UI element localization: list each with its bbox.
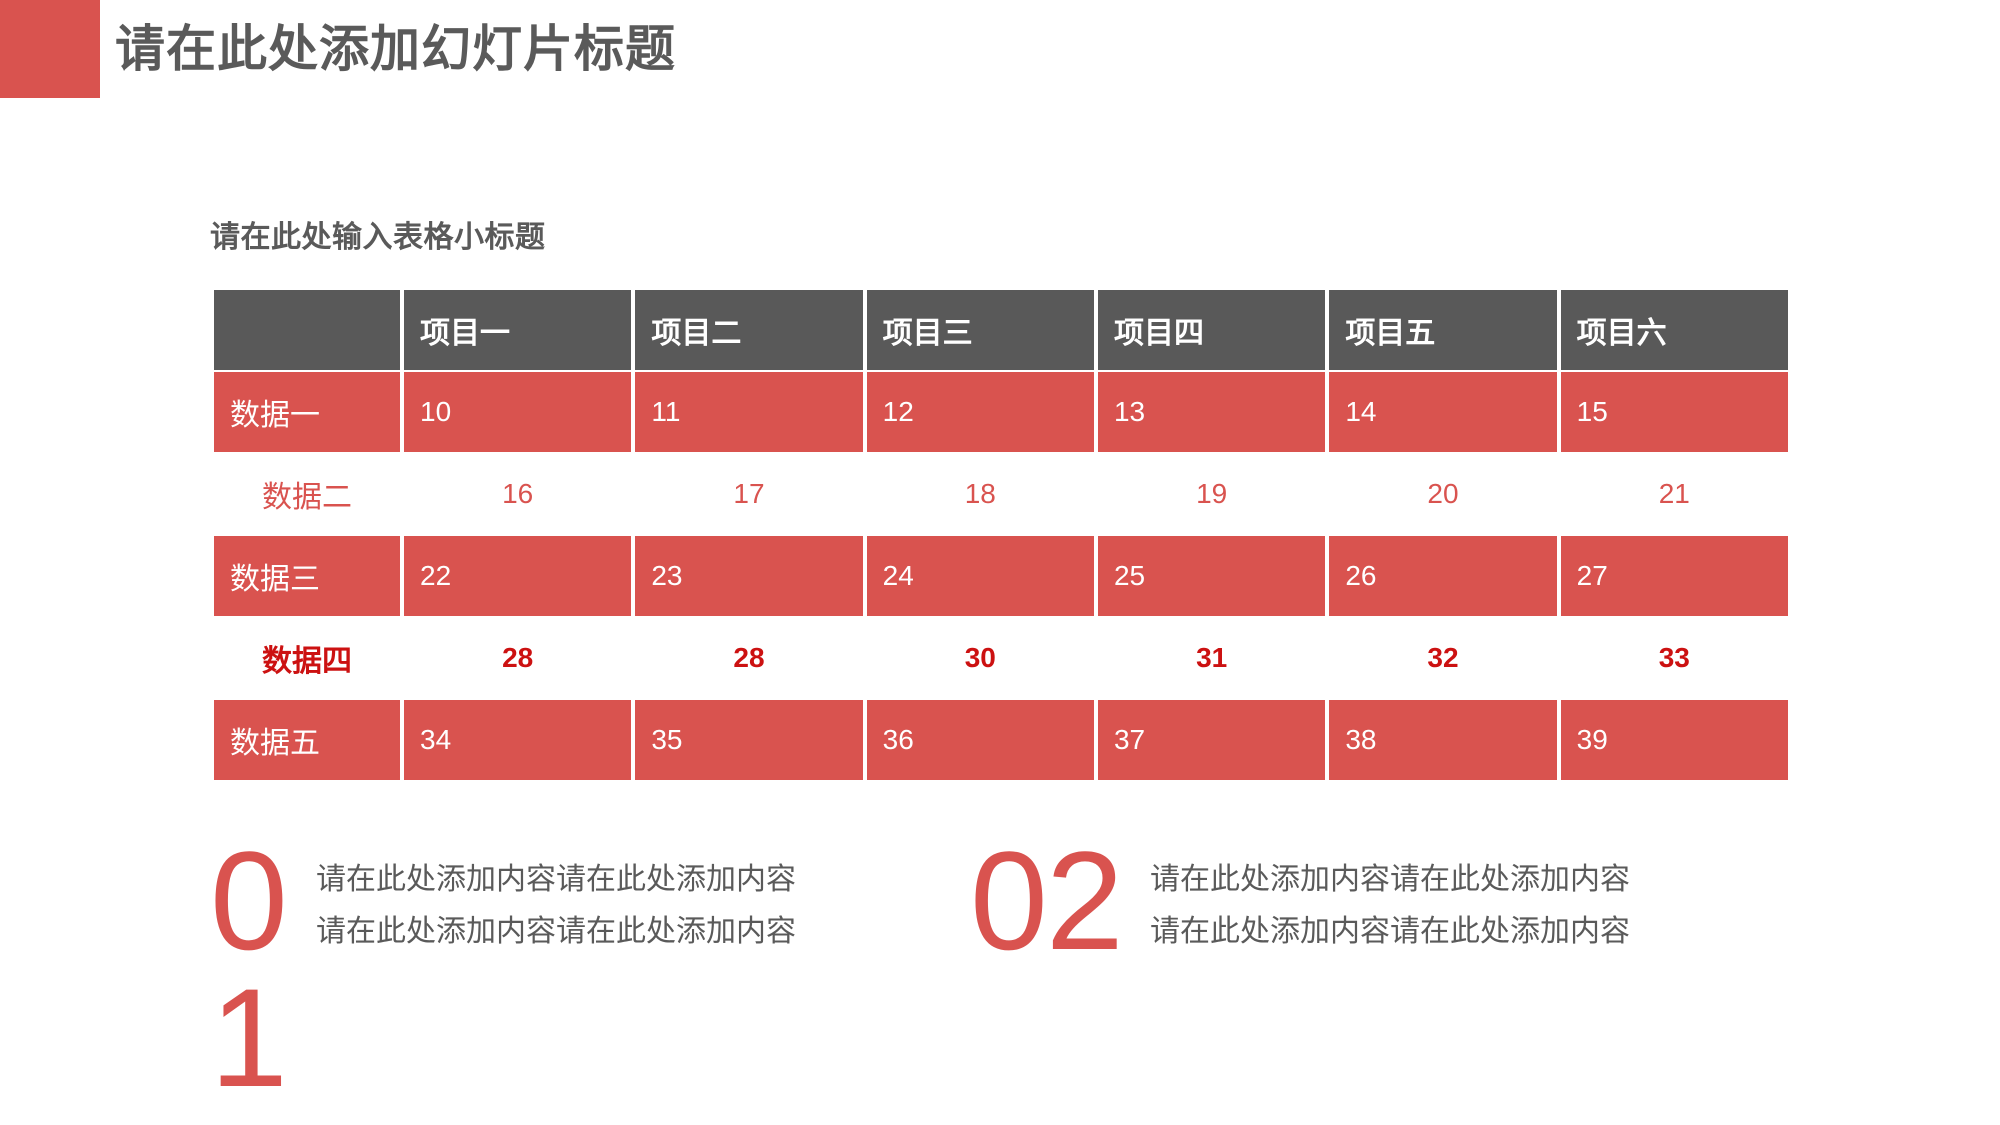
column-header-2: 项目二	[635, 290, 862, 370]
column-header-5: 项目五	[1329, 290, 1556, 370]
table-row: 数据一 10 11 12 13 14 15	[214, 372, 1788, 452]
table-cell: 12	[867, 372, 1094, 452]
column-header-1: 项目一	[404, 290, 631, 370]
column-header-6: 项目六	[1561, 290, 1788, 370]
table-cell: 25	[1098, 536, 1325, 616]
table-cell: 22	[404, 536, 631, 616]
table-cell: 15	[1561, 372, 1788, 452]
row-label: 数据二	[214, 454, 400, 534]
table-cell: 35	[635, 700, 862, 780]
blurb-item-02: 02 请在此处添加内容请在此处添加内容 请在此处添加内容请在此处添加内容	[970, 828, 1800, 969]
table-cell: 17	[635, 454, 862, 534]
column-header-blank	[214, 290, 400, 370]
table-cell: 28	[404, 618, 631, 698]
table-cell: 38	[1329, 700, 1556, 780]
table-cell: 24	[867, 536, 1094, 616]
table-cell: 30	[867, 618, 1094, 698]
table-cell: 19	[1098, 454, 1325, 534]
blurb-text-line: 请在此处添加内容请在此处添加内容	[316, 906, 796, 958]
blurb-text: 请在此处添加内容请在此处添加内容 请在此处添加内容请在此处添加内容	[316, 854, 796, 958]
table-row: 数据二 16 17 18 19 20 21	[214, 454, 1788, 534]
table-cell: 14	[1329, 372, 1556, 452]
table-cell: 27	[1561, 536, 1788, 616]
blurb-number: 02	[970, 832, 1150, 969]
table-cell: 11	[635, 372, 862, 452]
table-cell: 21	[1561, 454, 1788, 534]
table-cell: 28	[635, 618, 862, 698]
table-cell: 36	[867, 700, 1094, 780]
table-cell: 23	[635, 536, 862, 616]
table-cell: 33	[1561, 618, 1788, 698]
table-cell: 18	[867, 454, 1094, 534]
table-cell: 13	[1098, 372, 1325, 452]
blurb-text-line: 请在此处添加内容请在此处添加内容	[1150, 854, 1630, 906]
table-cell: 39	[1561, 700, 1788, 780]
row-label: 数据五	[214, 700, 400, 780]
title-accent-block	[0, 0, 100, 98]
row-label: 数据四	[214, 618, 400, 698]
table-subtitle: 请在此处输入表格小标题	[210, 212, 546, 256]
blurb-text-line: 请在此处添加内容请在此处添加内容	[1150, 906, 1630, 958]
row-label: 数据一	[214, 372, 400, 452]
table-row: 数据三 22 23 24 25 26 27	[214, 536, 1788, 616]
table-header: 项目一 项目二 项目三 项目四 项目五 项目六	[214, 290, 1788, 370]
table-cell: 26	[1329, 536, 1556, 616]
table-cell: 37	[1098, 700, 1325, 780]
table-cell: 31	[1098, 618, 1325, 698]
table-row: 数据五 34 35 36 37 38 39	[214, 700, 1788, 780]
slide-canvas: 请在此处添加幻灯片标题 请在此处输入表格小标题 项目一 项目二 项目三 项目四 …	[0, 0, 2000, 1125]
blurb-number: 01	[210, 832, 302, 1106]
blurb-group: 01 请在此处添加内容请在此处添加内容 请在此处添加内容请在此处添加内容 02 …	[210, 828, 1810, 1106]
table-body: 数据一 10 11 12 13 14 15 数据二 16 17 18 19 20…	[214, 372, 1788, 780]
table-row: 数据四 28 28 30 31 32 33	[214, 618, 1788, 698]
blurb-text: 请在此处添加内容请在此处添加内容 请在此处添加内容请在此处添加内容	[1150, 854, 1630, 958]
table-cell: 16	[404, 454, 631, 534]
row-label: 数据三	[214, 536, 400, 616]
blurb-item-01: 01 请在此处添加内容请在此处添加内容 请在此处添加内容请在此处添加内容	[210, 828, 970, 1106]
table-cell: 32	[1329, 618, 1556, 698]
table-cell: 10	[404, 372, 631, 452]
table-cell: 20	[1329, 454, 1556, 534]
table-cell: 34	[404, 700, 631, 780]
data-table: 项目一 项目二 项目三 项目四 项目五 项目六 数据一 10 11 12 13 …	[210, 288, 1792, 782]
column-header-4: 项目四	[1098, 290, 1325, 370]
blurb-text-line: 请在此处添加内容请在此处添加内容	[316, 854, 796, 906]
page-title: 请在此处添加幻灯片标题	[115, 16, 676, 82]
column-header-3: 项目三	[867, 290, 1094, 370]
table-header-row: 项目一 项目二 项目三 项目四 项目五 项目六	[214, 290, 1788, 370]
